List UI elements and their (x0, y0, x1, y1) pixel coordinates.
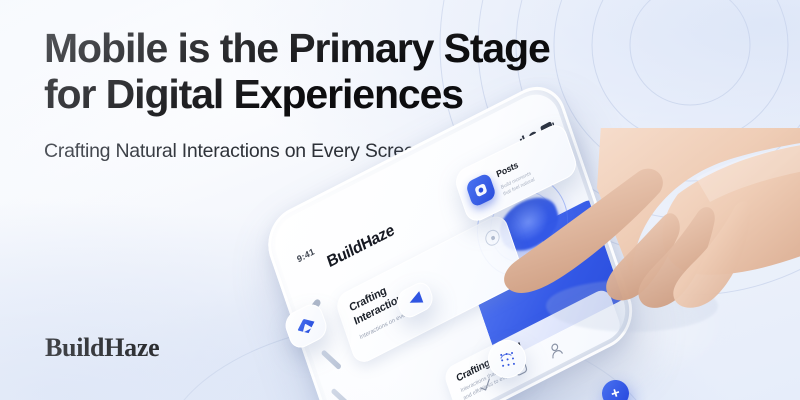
page-title: Mobile is the Primary Stage for Digital … (44, 26, 664, 118)
diamond-glyph (295, 315, 317, 338)
phone-mockup-scene: 9:41 (250, 140, 800, 400)
status-time: 9:41 (296, 246, 316, 264)
brand-logo: BuildHaze (45, 333, 159, 363)
hero-banner: Mobile is the Primary Stage for Digital … (0, 0, 800, 400)
pointing-hand-photo (482, 128, 800, 400)
cursor-glyph (407, 291, 423, 308)
